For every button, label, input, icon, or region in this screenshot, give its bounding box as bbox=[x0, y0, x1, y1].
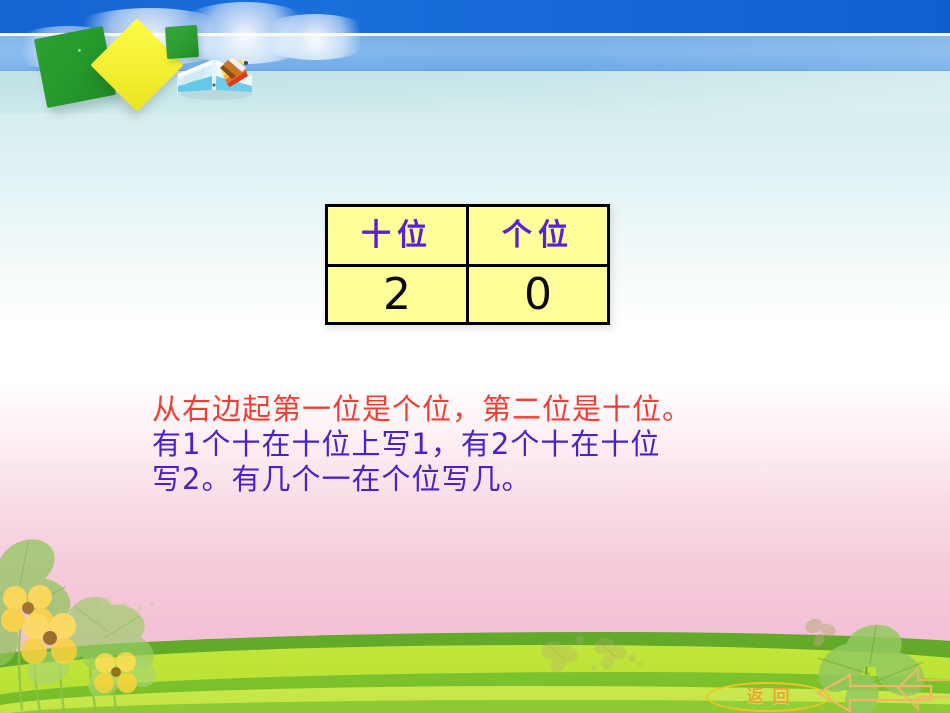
return-button[interactable]: 返回 bbox=[706, 682, 830, 712]
place-value-table: 十位 个位 2 0 bbox=[325, 204, 610, 325]
explanation-line-1: 从右边起第一位是个位，第二位是十位。 bbox=[152, 392, 852, 427]
floating-clover-specks-decoration bbox=[520, 628, 650, 688]
return-button-label: 返回 bbox=[738, 689, 799, 706]
table-value-cell-ones: 0 bbox=[468, 266, 609, 324]
clover-and-flowers-decoration bbox=[0, 520, 318, 713]
table-row-values: 2 0 bbox=[327, 266, 609, 324]
tens-place-label: 十位 bbox=[361, 218, 433, 253]
explanation-line-3: 写2。有几个一在个位写几。 bbox=[152, 462, 852, 497]
table-row-headers: 十位 个位 bbox=[327, 206, 609, 266]
ones-place-label: 个位 bbox=[502, 218, 574, 253]
lesson-slide: 十位 个位 2 0 从右边起第一位是个位，第二位是十位。 有1个十在十位上写1，… bbox=[0, 0, 950, 713]
tens-digit-value: 2 bbox=[383, 269, 411, 320]
open-book-icon bbox=[172, 38, 258, 100]
ones-digit-value: 0 bbox=[524, 269, 552, 320]
table-header-cell-ones: 个位 bbox=[468, 206, 609, 266]
table-header-cell-tens: 十位 bbox=[327, 206, 468, 266]
table-value-cell-tens: 2 bbox=[327, 266, 468, 324]
explanation-line-2: 有1个十在十位上写1，有2个十在十位 bbox=[152, 427, 852, 462]
explanation-text-block: 从右边起第一位是个位，第二位是十位。 有1个十在十位上写1，有2个十在十位 写2… bbox=[152, 392, 852, 497]
